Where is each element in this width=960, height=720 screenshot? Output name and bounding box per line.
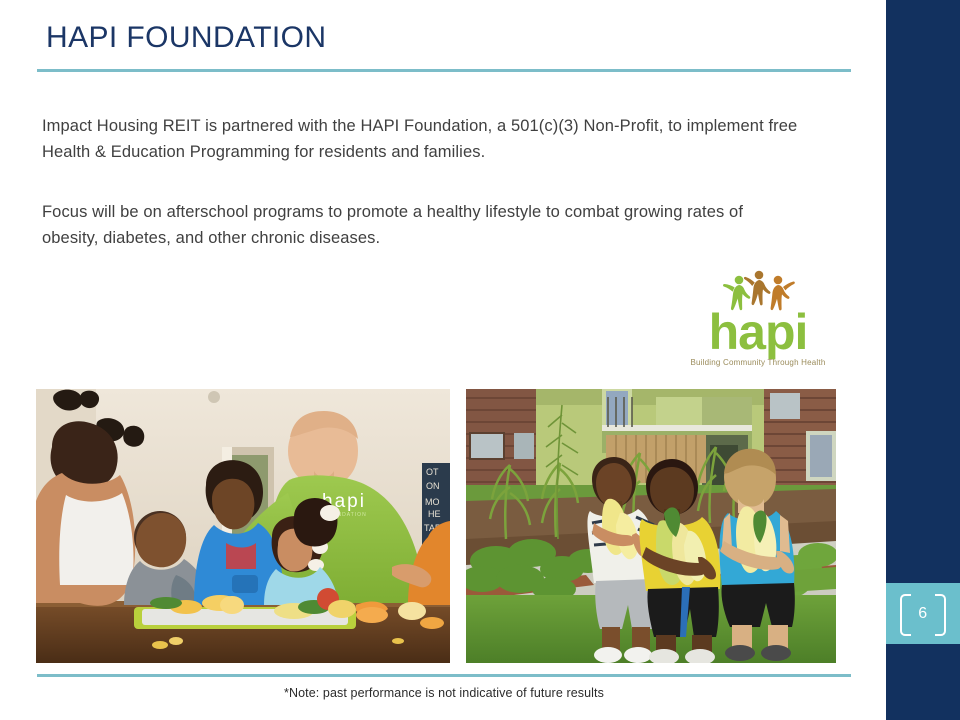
svg-text:HE: HE [428, 509, 441, 519]
svg-text:MO: MO [425, 497, 440, 507]
page-number-badge: 6 [886, 583, 960, 644]
hapi-tagline: Building Community Through Health [682, 358, 834, 367]
hapi-wordmark: hapi [682, 306, 834, 358]
title-divider [37, 69, 851, 72]
paragraph-focus: Focus will be on afterschool programs to… [42, 199, 782, 251]
footer-note: *Note: past performance is not indicativ… [37, 686, 851, 700]
svg-text:OT: OT [426, 467, 439, 477]
community-garden-photo [466, 389, 836, 663]
svg-text:ON: ON [426, 481, 440, 491]
hapi-logo: hapi Building Community Through Health [682, 259, 834, 381]
page-number: 6 [886, 583, 960, 644]
footer-divider [37, 674, 851, 677]
paragraph-partnership: Impact Housing REIT is partnered with th… [42, 113, 832, 165]
slide: 6 HAPI FOUNDATION Impact Housing REIT is… [0, 0, 960, 720]
page-title: HAPI FOUNDATION [46, 21, 326, 55]
cooking-class-photo: OT ON MO HE TAR hapi FOUNDATION [36, 389, 450, 663]
